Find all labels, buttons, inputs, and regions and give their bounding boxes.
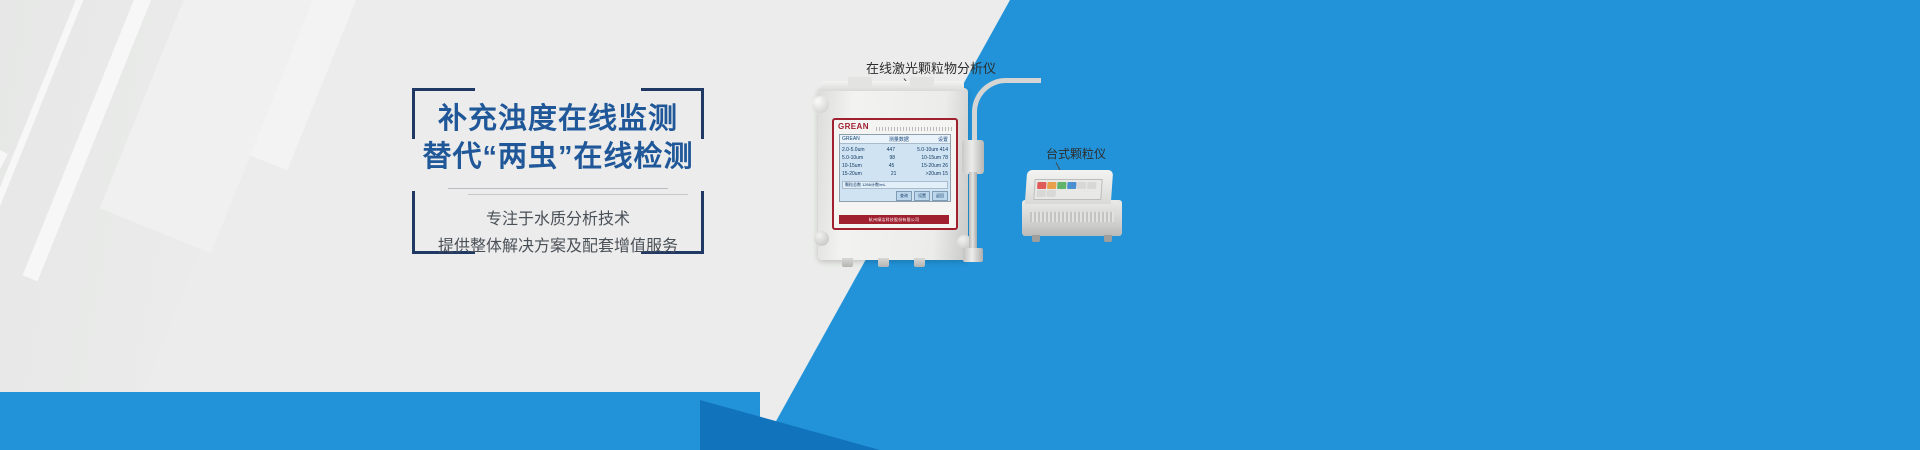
bench-leg <box>1104 235 1112 242</box>
display-status-bar: 颗粒总数 1266计数/mL <box>842 181 948 189</box>
headline: 补充浊度在线监测 替代“两虫”在线检测 <box>412 100 704 176</box>
display-cell: 21 <box>891 170 897 178</box>
headline-divider-secondary <box>468 194 688 195</box>
bench-base <box>1022 200 1122 236</box>
bench-key[interactable] <box>1047 182 1056 189</box>
promo-banner: 补充浊度在线监测 替代“两虫”在线检测 专注于水质分析技术 提供整体解决方案及配… <box>0 0 1920 450</box>
display-cell: 10-15um <box>842 162 862 170</box>
bench-key[interactable] <box>1046 190 1055 197</box>
analyzer-front-bezel: GREAN GREAN 测量数据 设置 2.0-5.0um 447 5.0-10… <box>832 118 958 230</box>
analyzer-mount-lug <box>848 77 872 86</box>
display-button[interactable]: 查询 <box>896 191 912 201</box>
display-row: 15-20um 21 >20um 15 <box>842 170 948 178</box>
analyzer-brand-rule <box>876 127 952 131</box>
bench-key[interactable] <box>1087 182 1096 189</box>
display-data-rows: 2.0-5.0um 447 5.0-10um 414 5.0-10um 98 1… <box>842 146 948 178</box>
display-button[interactable]: 设置 <box>914 191 930 201</box>
probe-base <box>963 248 983 262</box>
headline-divider <box>448 188 668 189</box>
analyzer-mount-lug <box>910 77 934 86</box>
display-cell: 10-15um 78 <box>921 154 948 162</box>
display-cell: 5.0-10um 414 <box>917 146 948 154</box>
probe-tubing <box>972 78 1041 145</box>
bench-control-panel[interactable] <box>1033 179 1102 200</box>
online-laser-particle-analyzer: GREAN GREAN 测量数据 设置 2.0-5.0um 447 5.0-10… <box>818 88 968 260</box>
online-analyzer-label: 在线激光颗粒物分析仪 <box>866 58 996 77</box>
display-cell: 2.0-5.0um <box>842 146 865 154</box>
display-row: 2.0-5.0um 447 5.0-10um 414 <box>842 146 948 154</box>
subtitle-line-2: 提供整体解决方案及配套增值服务 <box>412 233 704 260</box>
display-cell: 15-20um 26 <box>921 162 948 170</box>
analyzer-brand-logo: GREAN <box>838 122 869 131</box>
display-button[interactable]: 返回 <box>932 191 948 201</box>
headline-block: 补充浊度在线监测 替代“两虫”在线检测 专注于水质分析技术 提供整体解决方案及配… <box>412 88 704 254</box>
display-row: 5.0-10um 98 10-15um 78 <box>842 154 948 162</box>
analyzer-display[interactable]: GREAN 测量数据 设置 2.0-5.0um 447 5.0-10um 414… <box>839 134 951 202</box>
display-header-right: 设置 <box>938 136 948 143</box>
bench-particle-counter <box>1022 170 1122 245</box>
analyzer-cable-gland <box>842 258 853 267</box>
display-cell: 447 <box>887 146 895 154</box>
display-row: 10-15um 45 15-20um 26 <box>842 162 948 170</box>
analyzer-cable-gland <box>878 258 889 267</box>
probe-body <box>962 140 984 174</box>
subtitle: 专注于水质分析技术 提供整体解决方案及配套增值服务 <box>412 206 704 260</box>
display-header-mid: 测量数据 <box>889 136 909 143</box>
display-header-left: GREAN <box>842 136 860 143</box>
display-cell: 45 <box>889 162 895 170</box>
bench-analyzer-label: 台式颗粒仪 <box>1046 145 1106 162</box>
display-cell: 98 <box>889 154 895 162</box>
bench-key[interactable] <box>1057 182 1066 189</box>
display-header: GREAN 测量数据 设置 <box>840 135 950 144</box>
analyzer-foot <box>814 231 829 246</box>
bench-key[interactable] <box>1067 182 1076 189</box>
subtitle-line-1: 专注于水质分析技术 <box>412 206 704 233</box>
bench-key[interactable] <box>1077 182 1086 189</box>
headline-line-2: 替代“两虫”在线检测 <box>412 138 704 176</box>
analyzer-company-strip: 杭州绿洁科技股份有限公司 <box>839 215 949 224</box>
sensor-probe-module <box>962 140 984 262</box>
analyzer-knob <box>812 96 829 113</box>
display-cell: 15-20um <box>842 170 862 178</box>
display-cell: >20um 15 <box>926 170 948 178</box>
display-cell: 5.0-10um <box>842 154 863 162</box>
bench-key[interactable] <box>1036 190 1045 197</box>
headline-line-1: 补充浊度在线监测 <box>412 100 704 138</box>
analyzer-cable-gland <box>914 258 925 267</box>
display-button-row: 查询 设置 返回 <box>842 191 948 200</box>
analyzer-enclosure-top <box>822 81 964 91</box>
bench-key[interactable] <box>1037 182 1046 189</box>
probe-stem <box>969 172 977 250</box>
bench-leg <box>1032 235 1040 242</box>
bench-vent <box>1030 212 1114 222</box>
